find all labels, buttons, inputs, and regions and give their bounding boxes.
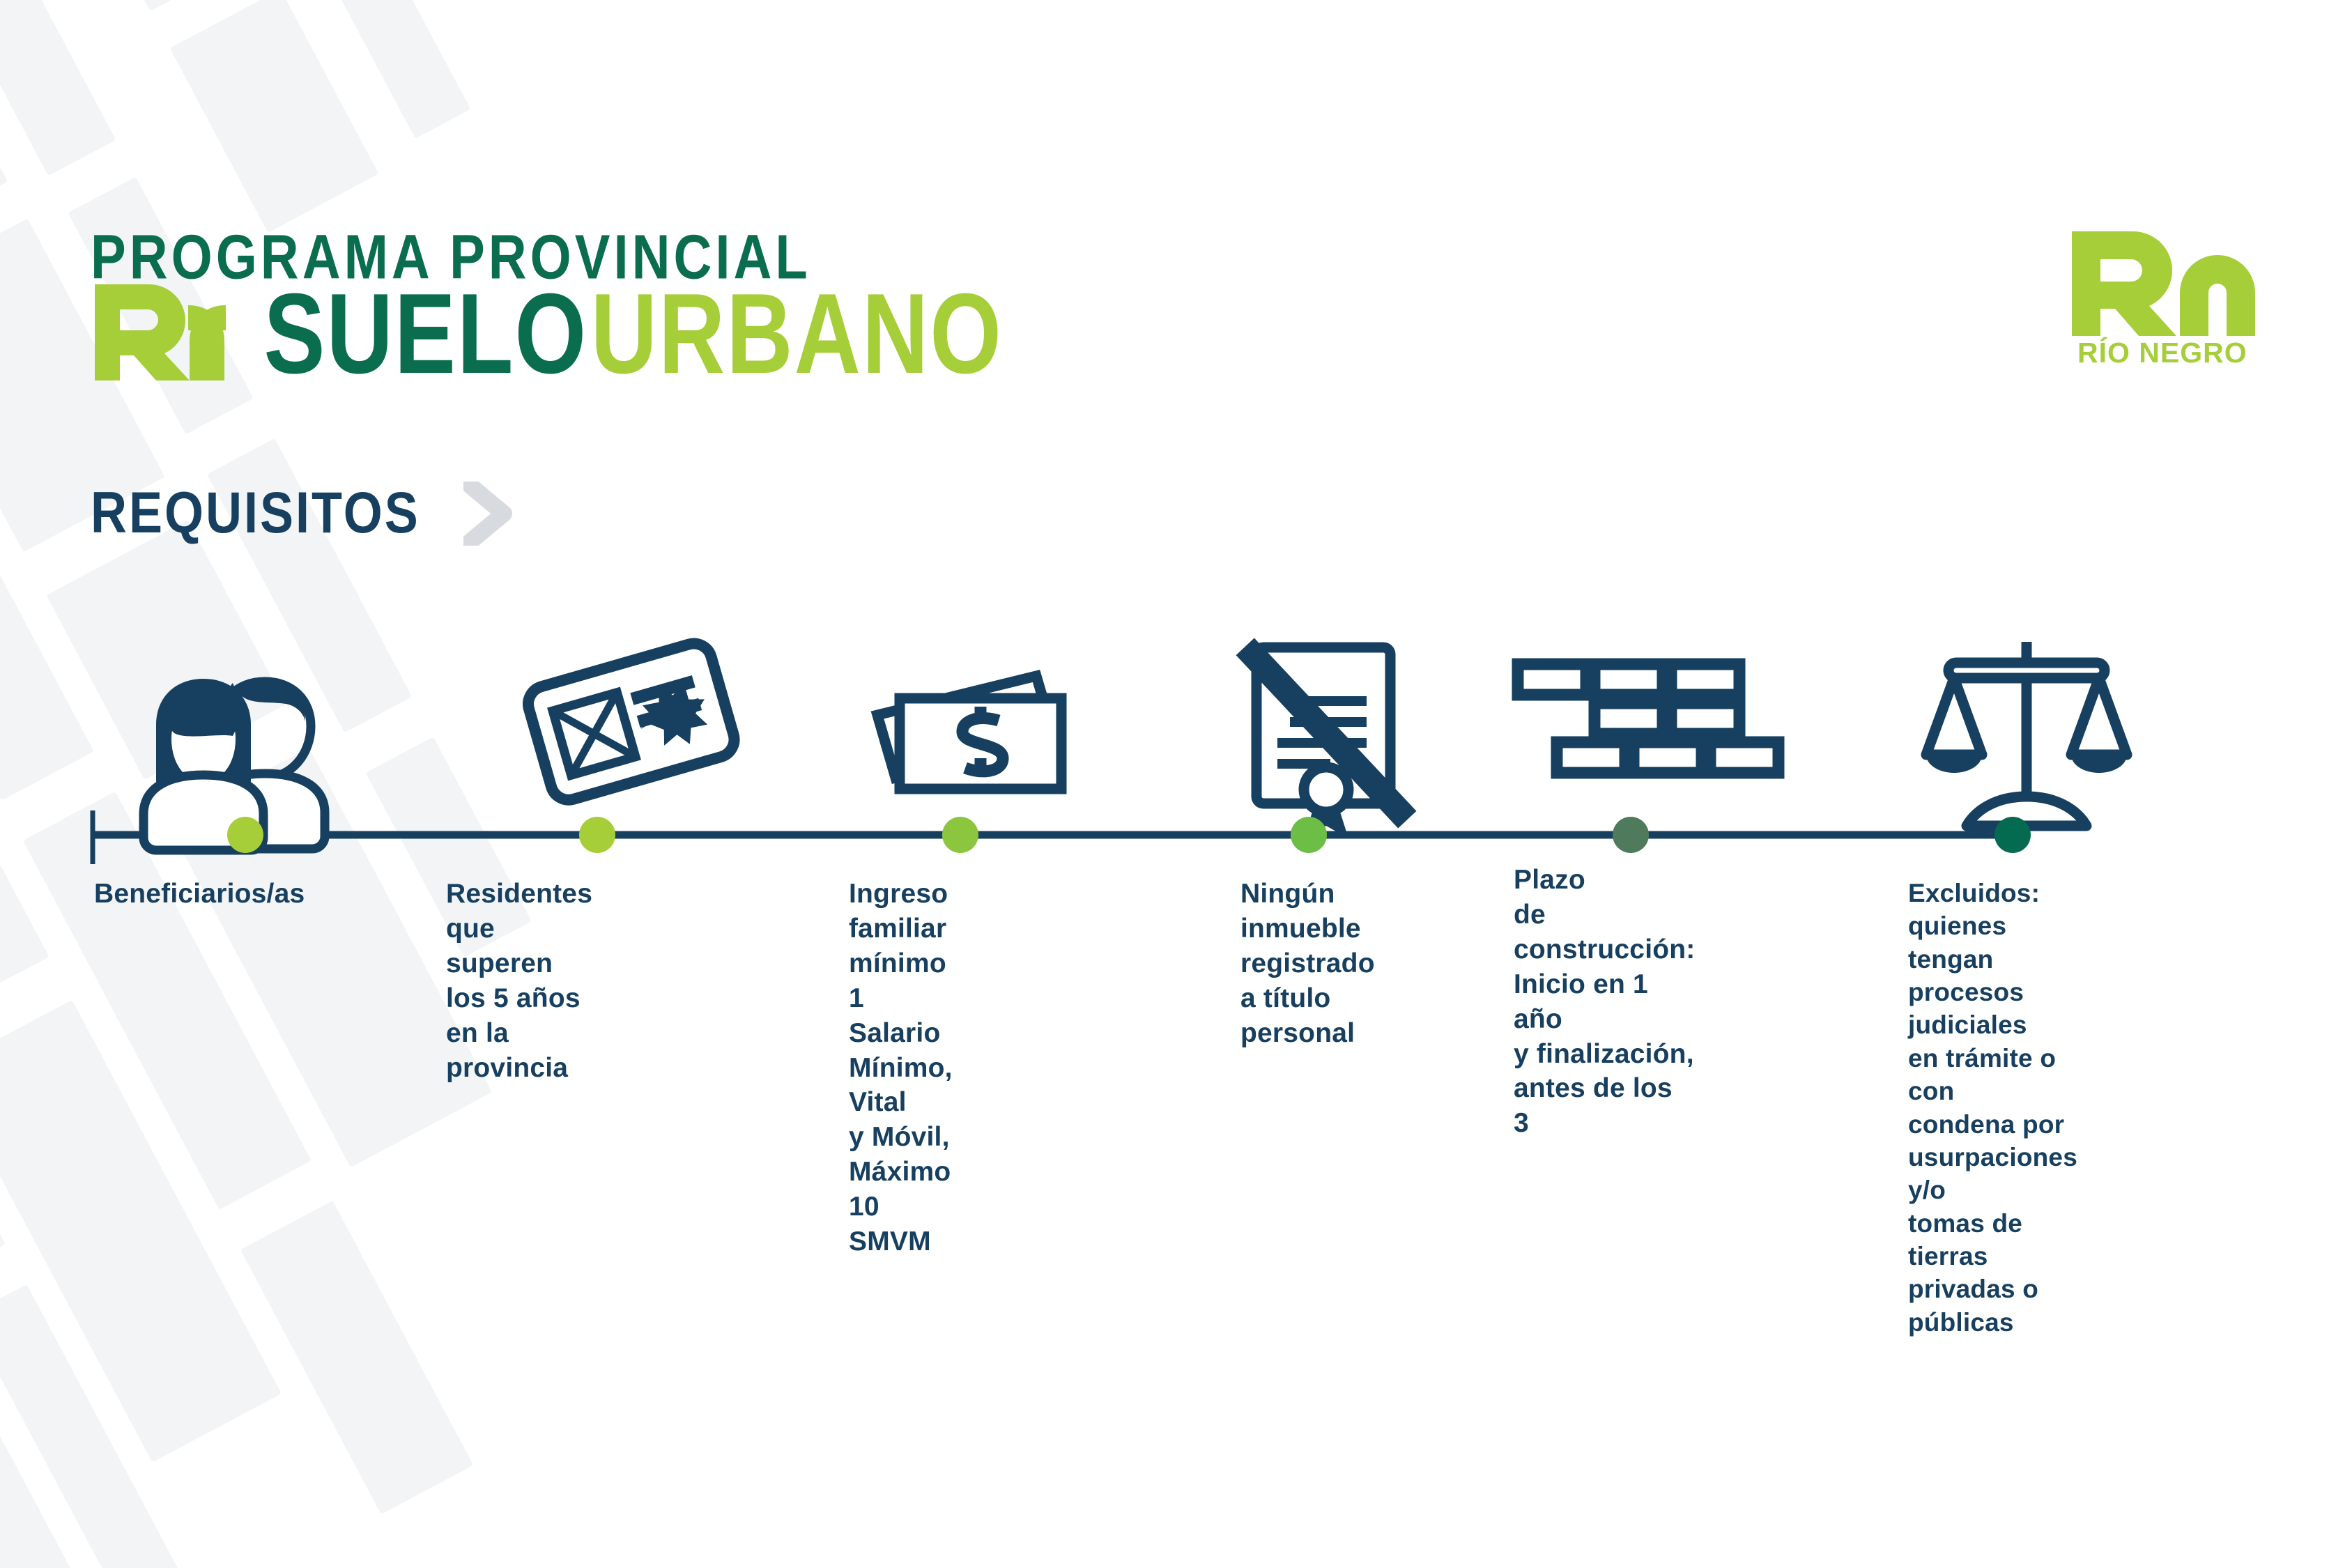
svg-text:RÍO NEGRO: RÍO NEGRO xyxy=(2077,337,2247,369)
step-4-caption: Ningún inmueble registrado a título pers… xyxy=(1240,877,1375,1051)
step-2-caption: Residentes que superen los 5 años en la … xyxy=(446,877,592,1085)
title-rn-monogram xyxy=(91,276,237,383)
step-5-caption: Plazo de construcción: Inicio en 1 año y… xyxy=(1514,863,1695,1141)
timeline-dot-5[interactable] xyxy=(1613,817,1649,853)
step-6-caption: Excluidos: quienes tengan procesos judic… xyxy=(1908,877,2077,1339)
timeline-dot-1[interactable] xyxy=(227,817,263,853)
id-card-icon xyxy=(524,639,739,804)
brick-wall-icon xyxy=(1518,664,1778,773)
crossed-out-deed-icon xyxy=(1254,647,1399,838)
timeline-dot-3[interactable] xyxy=(942,817,978,853)
timeline-dot-4[interactable] xyxy=(1291,817,1327,853)
section-heading-row: REQUISITOS xyxy=(91,476,512,549)
chevron-right-icon xyxy=(463,482,512,549)
scales-of-justice-icon xyxy=(1926,642,2127,826)
rio-negro-logo: RÍO NEGRO xyxy=(2066,224,2261,374)
title-word-urbano: URBANO xyxy=(591,277,1003,391)
title-word-suelo: SUELO xyxy=(263,277,587,391)
section-label-requisitos: REQUISITOS xyxy=(91,479,420,546)
banknotes-dollar-icon xyxy=(877,676,1061,789)
page-title: SUELO URBANO xyxy=(91,276,1003,391)
timeline-dot-6[interactable] xyxy=(1994,817,2031,853)
step-3-caption: Ingreso familiar mínimo 1 Salario Mínimo… xyxy=(849,877,953,1259)
step-1-caption: Beneficiarios/as xyxy=(94,877,305,912)
timeline-dot-2[interactable] xyxy=(579,817,615,853)
